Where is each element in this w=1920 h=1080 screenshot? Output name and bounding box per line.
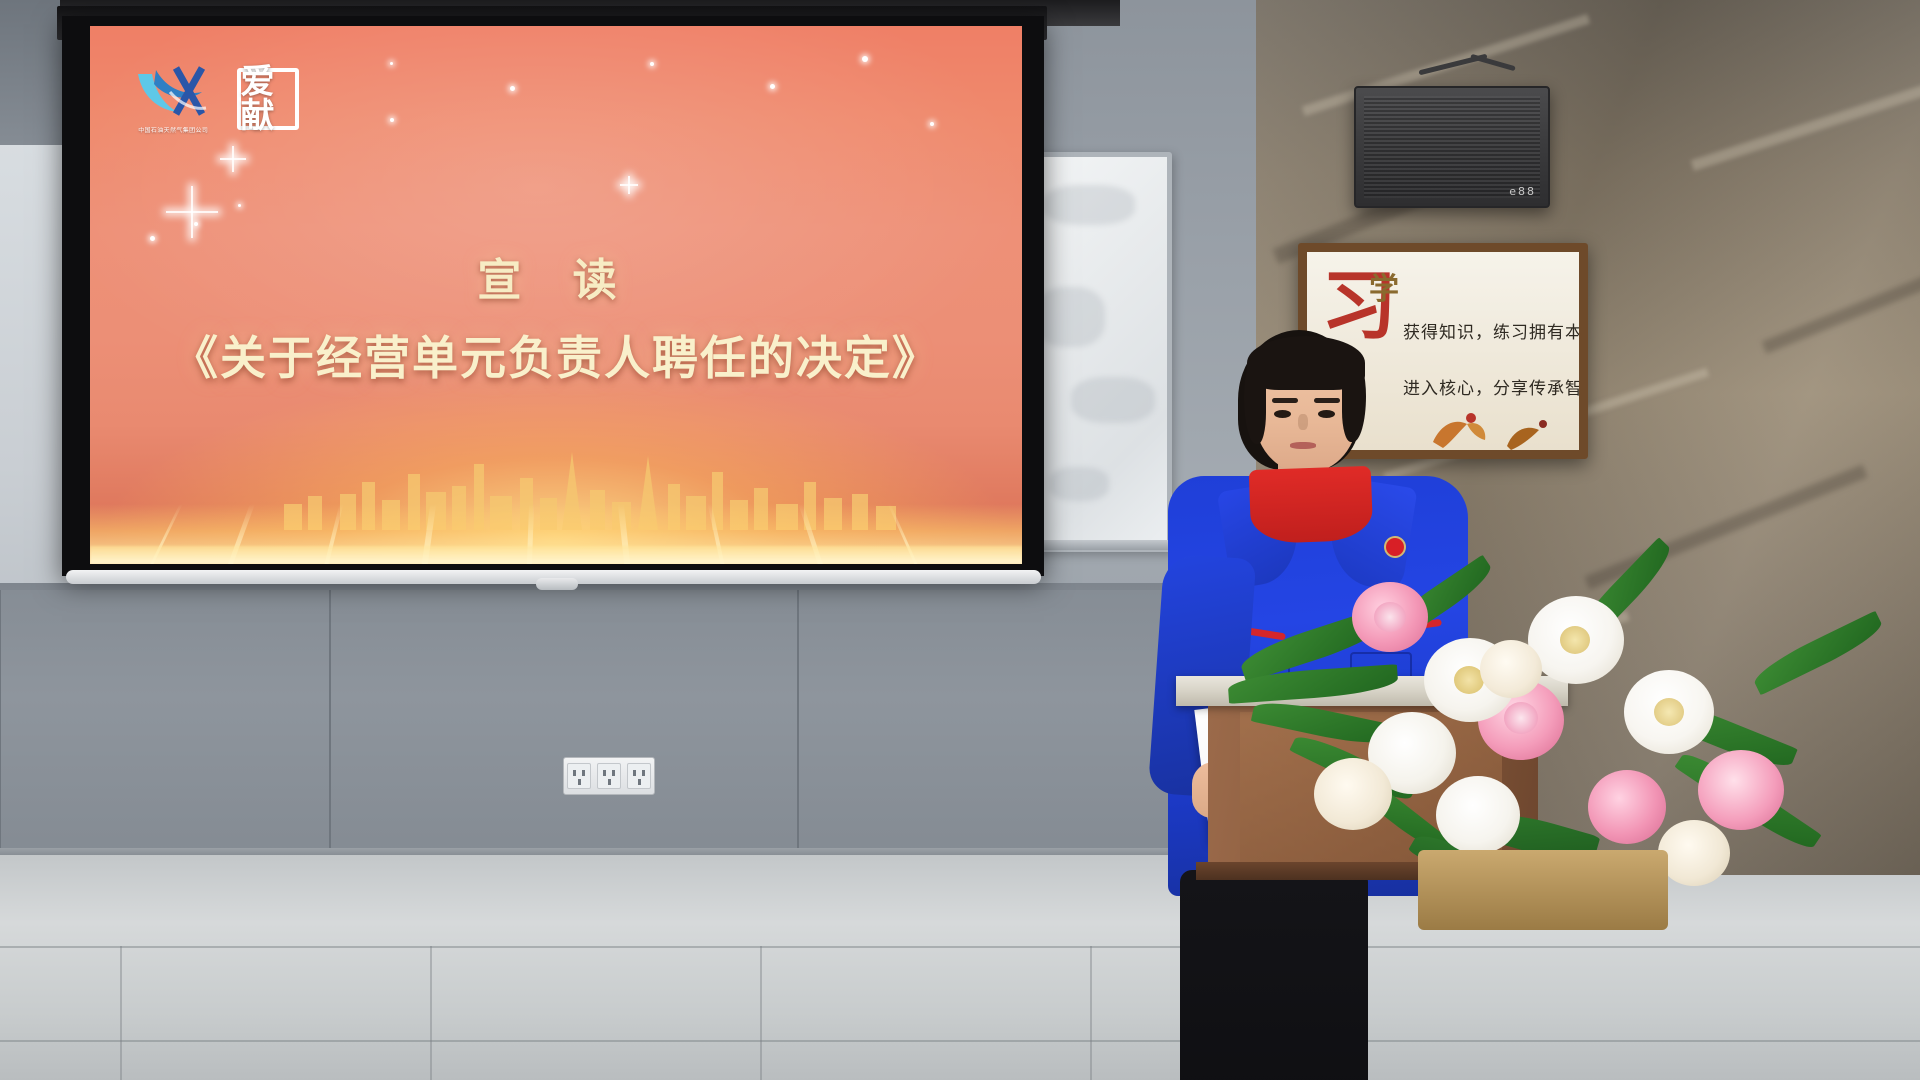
sparkle-dot-10 bbox=[390, 62, 393, 65]
floor-seam-v4 bbox=[1090, 946, 1092, 1080]
sparkle-star-medium bbox=[220, 146, 246, 172]
outlet-socket-1[interactable] bbox=[567, 763, 591, 789]
hair-side-left bbox=[1244, 358, 1266, 444]
lily-white-5-core bbox=[1654, 698, 1684, 726]
eye-right bbox=[1318, 410, 1335, 418]
speaker-grill bbox=[1364, 96, 1540, 198]
eyebrow-right bbox=[1314, 398, 1340, 403]
floor-seam-2 bbox=[0, 1040, 1920, 1042]
sparkle-star-small bbox=[620, 176, 638, 194]
seal-logo: 爱献 bbox=[237, 68, 299, 130]
plaque-accent-character: 学 bbox=[1369, 264, 1399, 308]
flower-bouquet bbox=[1228, 520, 1920, 920]
outlet-socket-3[interactable] bbox=[627, 763, 651, 789]
lily-white-2-core bbox=[1560, 626, 1590, 654]
bouquet-basket bbox=[1418, 850, 1668, 930]
fern-leaf-10 bbox=[1749, 611, 1886, 696]
eyebrow-left bbox=[1272, 398, 1298, 403]
lily-white-4 bbox=[1436, 776, 1520, 854]
sparkle-dot-9 bbox=[930, 122, 934, 126]
sparkle-dot-5 bbox=[510, 86, 515, 91]
projection-screen: 中国石油天然气集团公司 爱献 宣 读 《关于经营单元负责人聘任的决定》 bbox=[62, 16, 1044, 576]
rose-pink-1-core bbox=[1374, 602, 1406, 632]
ceiling-speaker: e88 bbox=[1354, 86, 1550, 208]
company-logo: 中国石油天然气集团公司 bbox=[132, 62, 215, 136]
rose-cream-2 bbox=[1480, 640, 1542, 698]
company-logo-caption: 中国石油天然气集团公司 bbox=[138, 126, 208, 135]
y-mark-icon bbox=[132, 62, 210, 124]
slide-title-line-1: 宣 读 bbox=[90, 244, 1022, 308]
floor-seam-v2 bbox=[430, 946, 432, 1080]
floor-seam-v3 bbox=[760, 946, 762, 1080]
rose-pink-4 bbox=[1698, 750, 1784, 830]
whiteboard-marker-tray bbox=[1022, 540, 1170, 550]
screen-pull-knob[interactable] bbox=[536, 578, 578, 590]
rose-pink-3 bbox=[1588, 770, 1666, 844]
slide-logo-row: 中国石油天然气集团公司 爱献 bbox=[132, 62, 299, 136]
sparkle-dot-3 bbox=[238, 204, 241, 207]
floor-seam-v1 bbox=[120, 946, 122, 1080]
eye-left bbox=[1274, 410, 1291, 418]
rose-pink-2-core bbox=[1504, 702, 1538, 734]
nose bbox=[1298, 414, 1308, 430]
sparkle-dot-4 bbox=[390, 118, 394, 122]
slide-surface: 中国石油天然气集团公司 爱献 宣 读 《关于经营单元负责人聘任的决定》 bbox=[90, 26, 1022, 564]
rose-cream-1 bbox=[1314, 758, 1392, 830]
sparkle-dot-2 bbox=[194, 222, 198, 226]
wall-outlet-panel[interactable] bbox=[563, 757, 655, 795]
mouth bbox=[1290, 442, 1316, 449]
wall-panel-left bbox=[0, 590, 330, 858]
sparkle-dot-6 bbox=[650, 62, 654, 66]
floor-seam-1 bbox=[0, 946, 1920, 948]
sparkle-dot-8 bbox=[862, 56, 868, 62]
slide-title-line-2: 《关于经营单元负责人聘任的决定》 bbox=[90, 322, 1022, 388]
slide-title-block: 宣 读 《关于经营单元负责人聘任的决定》 bbox=[90, 244, 1022, 388]
sparkle-star-large bbox=[166, 186, 218, 238]
rose-cream-3 bbox=[1658, 820, 1730, 886]
hair-side-right bbox=[1342, 358, 1366, 442]
sparkle-dot-7 bbox=[770, 84, 775, 89]
speaker-brand-label: e88 bbox=[1509, 185, 1536, 198]
sparkle-dot-1 bbox=[150, 236, 155, 241]
meeting-room-photo: e88 习 学 获得知识，练习拥有本 进入核心，分享传承智 bbox=[0, 0, 1920, 1080]
outlet-socket-2[interactable] bbox=[597, 763, 621, 789]
horizon-glow bbox=[90, 546, 1022, 564]
wall-panel-center bbox=[330, 590, 798, 858]
